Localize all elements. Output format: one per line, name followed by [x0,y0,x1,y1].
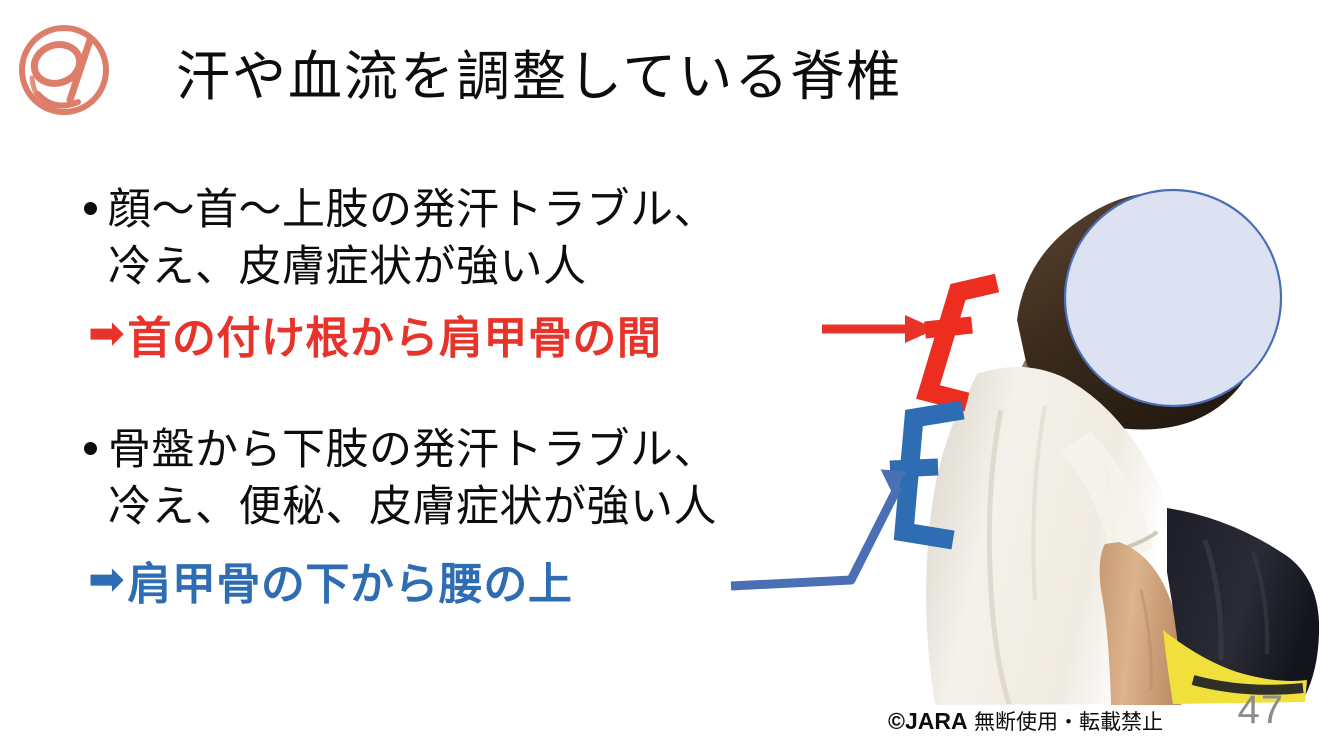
copyright-note: 無断使用・転載禁止 [974,711,1163,734]
bullet-dot-icon [84,202,97,215]
posture-photo-graphic [905,160,1320,705]
bullet-line: 冷え、便秘、皮膚症状が強い人 [108,479,717,536]
copyright-notice: ©JARA 無断使用・転載禁止 [888,706,1163,736]
callout-upper-spine: ➡ 首の付け根から肩甲骨の間 [88,302,661,366]
bullet-line: 冷え、皮膚症状が強い人 [108,239,717,296]
right-arrow-icon: ➡ [88,558,125,602]
jara-logo [12,16,116,122]
bullet-line: 骨盤から下肢の発汗トラブル、 [108,422,717,479]
list-item: 顔〜首〜上肢の発汗トラブル、 冷え、皮膚症状が強い人 [84,182,717,296]
bullet-line: 顔〜首〜上肢の発汗トラブル、 [108,182,717,239]
slide-canvas: 汗や血流を調整している脊椎 [0,0,1320,742]
callout-upper-spine-label: 首の付け根から肩甲骨の間 [127,302,661,366]
blue-pointer-arrow [731,459,914,586]
copyright-mark: ©JARA [888,708,968,734]
page-number: 47 [1238,688,1285,733]
page-title: 汗や血流を調整している脊椎 [176,48,902,107]
bullet-group-upper: 顔〜首〜上肢の発汗トラブル、 冷え、皮膚症状が強い人 [84,182,717,296]
list-item: 骨盤から下肢の発汗トラブル、 冷え、便秘、皮膚症状が強い人 [84,422,717,536]
right-arrow-icon: ➡ [88,312,125,356]
bullet-dot-icon [84,442,97,455]
face-mask-circle [1065,190,1281,406]
jara-logo-icon [12,16,116,122]
callout-lower-spine: ➡ 肩甲骨の下から腰の上 [88,548,572,612]
callout-lower-spine-label: 肩甲骨の下から腰の上 [127,548,572,612]
bullet-group-lower: 骨盤から下肢の発汗トラブル、 冷え、便秘、皮膚症状が強い人 [84,422,717,536]
posture-photo [905,160,1320,705]
